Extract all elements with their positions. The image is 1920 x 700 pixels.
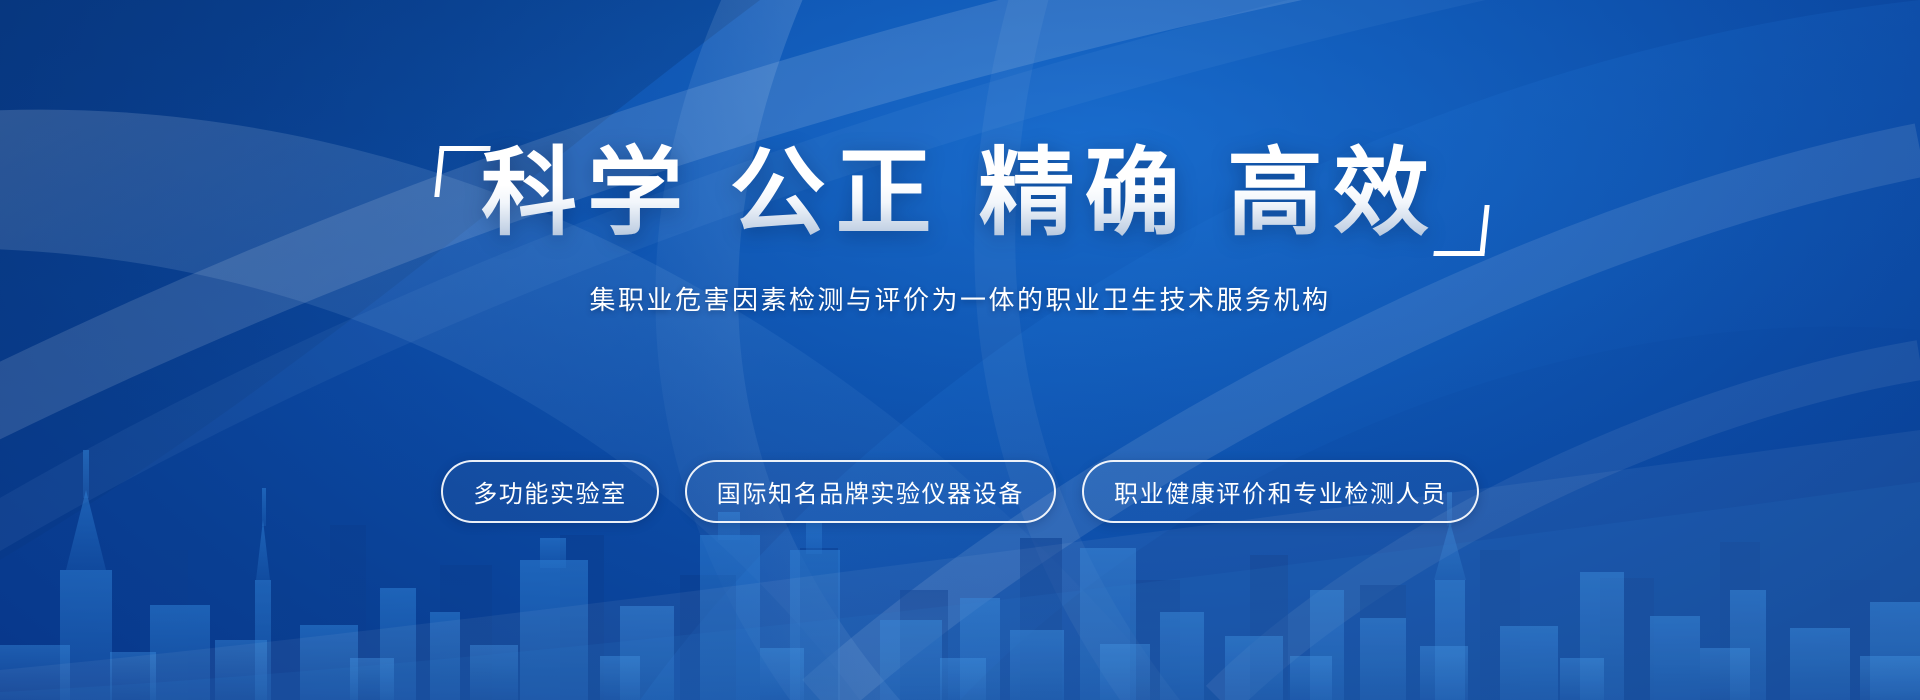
page-subtitle: 集职业危害因素检测与评价为一体的职业卫生技术服务机构 xyxy=(0,280,1920,317)
feature-pill-equipment[interactable]: 国际知名品牌实验仪器设备 xyxy=(685,460,1056,523)
feature-pill-lab[interactable]: 多功能实验室 xyxy=(441,460,659,523)
background-arcs xyxy=(0,0,1920,700)
page-title: 科学 公正 精确 高效 xyxy=(481,140,1439,248)
corner-bracket-bottom-right-icon xyxy=(1433,205,1489,256)
headline-wrap: 科学 公正 精确 高效 xyxy=(437,140,1483,248)
feature-pill-row: 多功能实验室 国际知名品牌实验仪器设备 职业健康评价和专业检测人员 xyxy=(0,460,1920,523)
hero-banner: 科学 公正 精确 高效 集职业危害因素检测与评价为一体的职业卫生技术服务机构 多… xyxy=(0,0,1920,700)
feature-pill-staff[interactable]: 职业健康评价和专业检测人员 xyxy=(1082,460,1479,523)
headline-block: 科学 公正 精确 高效 xyxy=(0,140,1920,248)
